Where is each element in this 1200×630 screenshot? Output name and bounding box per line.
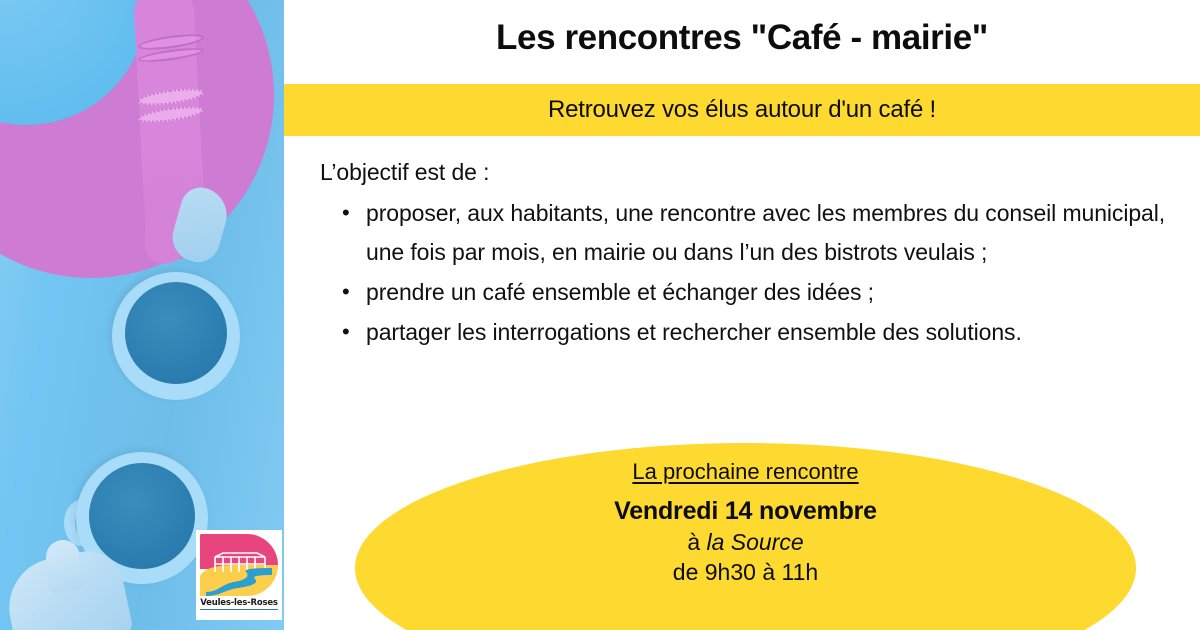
subtitle-text: Retrouvez vos élus autour d'un café ! (548, 96, 936, 124)
logo-mark (200, 534, 278, 596)
list-item: proposer, aux habitants, une rencontre a… (320, 194, 1180, 273)
next-meeting-heading: La prochaine rencontre (355, 459, 1136, 485)
place-prefix: à (687, 529, 706, 555)
objectives-block: L’objectif est de : proposer, aux habita… (320, 158, 1180, 352)
photo-panel: Veules-les-Roses (0, 0, 284, 630)
objectives-lead: L’objectif est de : (320, 158, 1180, 188)
list-item: prendre un café ensemble et échanger des… (320, 273, 1180, 313)
page-title: Les rencontres "Café - mairie" (284, 18, 1200, 58)
cup-ring-hole (0, 0, 147, 125)
content-panel: Les rencontres "Café - mairie" Retrouvez… (284, 0, 1200, 630)
coffee-cup-top (112, 272, 240, 400)
next-meeting-date: Vendredi 14 novembre (355, 497, 1136, 526)
next-meeting-time: de 9h30 à 11h (355, 559, 1136, 586)
coffee-liquid (125, 282, 227, 384)
place-name: la Source (707, 529, 804, 555)
poster: Veules-les-Roses Les rencontres "Café - … (0, 0, 1200, 630)
logo-label: Veules-les-Roses (200, 598, 278, 610)
list-item: partager les interrogations et recherche… (320, 313, 1180, 353)
logo-stream-icon (206, 566, 272, 596)
coffee-liquid (89, 463, 195, 569)
next-meeting-place: à la Source (355, 529, 1136, 556)
subtitle-banner: Retrouvez vos élus autour d'un café ! (284, 84, 1200, 136)
next-meeting-callout: La prochaine rencontre Vendredi 14 novem… (355, 443, 1136, 630)
veules-les-roses-logo: Veules-les-Roses (196, 530, 282, 620)
objectives-list: proposer, aux habitants, une rencontre a… (320, 194, 1180, 352)
